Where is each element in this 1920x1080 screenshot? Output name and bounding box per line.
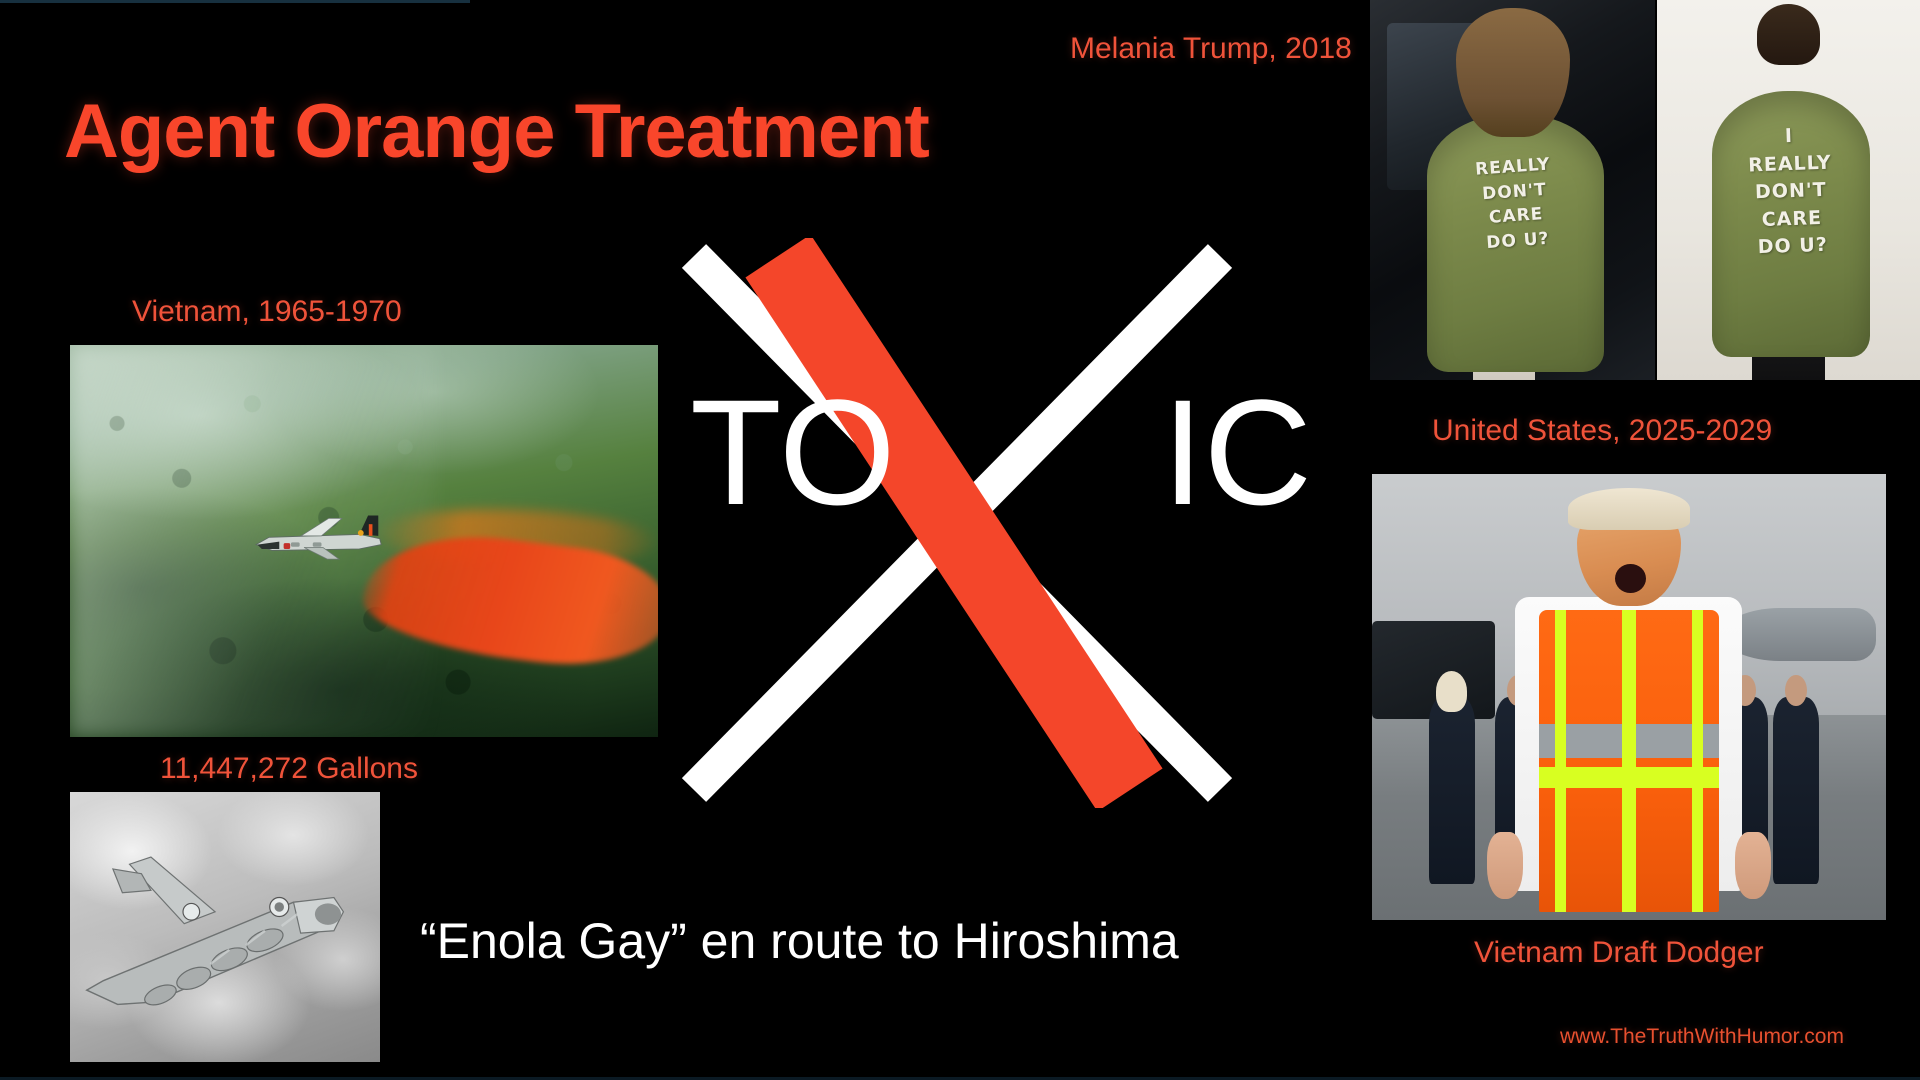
hand-left bbox=[1487, 832, 1522, 899]
bystander bbox=[1429, 697, 1475, 884]
top-edge-hairline bbox=[0, 0, 470, 3]
photo-man-in-safety-vest bbox=[1372, 474, 1886, 920]
website-credit[interactable]: www.TheTruthWithHumor.com bbox=[1560, 1025, 1844, 1049]
olive-parka-left: REALLYDON'TCAREDO U? bbox=[1427, 114, 1604, 372]
jacket-slogan-right: IREALLYDON'TCAREDO U? bbox=[1710, 120, 1873, 263]
photo-enola-gay-b29 bbox=[70, 792, 380, 1062]
photo-melania-boarding-vehicle: REALLYDON'TCAREDO U? bbox=[1370, 0, 1655, 380]
b29-aircraft-icon bbox=[82, 830, 367, 1024]
toxic-text-right: IC bbox=[1162, 377, 1312, 527]
man-in-orange-vest bbox=[1511, 501, 1747, 920]
c130-aircraft-icon bbox=[223, 514, 423, 565]
photo-vietnam-defoliant-spray bbox=[70, 345, 658, 737]
hair bbox=[1456, 8, 1570, 137]
bystander bbox=[1773, 697, 1819, 884]
jacket-slogan-left: REALLYDON'TCAREDO U? bbox=[1424, 149, 1607, 260]
open-mouth bbox=[1615, 564, 1646, 593]
olive-parka-right: IREALLYDON'TCAREDO U? bbox=[1712, 91, 1870, 357]
slide-canvas: Agent Orange Treatment Melania Trump, 20… bbox=[0, 0, 1920, 1080]
vest-stripe bbox=[1555, 610, 1566, 912]
caption-vietnam: Vietnam, 1965-1970 bbox=[132, 295, 402, 329]
caption-melania: Melania Trump, 2018 bbox=[1070, 32, 1352, 66]
toxic-text-left: TO bbox=[690, 377, 896, 527]
caption-draft-dodger: Vietnam Draft Dodger bbox=[1474, 936, 1764, 970]
hair-bun bbox=[1757, 4, 1820, 65]
orange-safety-vest bbox=[1539, 610, 1719, 912]
photo-melania-jacket-product: IREALLYDON'TCAREDO U? bbox=[1657, 0, 1920, 380]
caption-enola-gay: “Enola Gay” en route to Hiroshima bbox=[420, 912, 1179, 970]
page-title: Agent Orange Treatment bbox=[64, 88, 929, 175]
caption-gallons: 11,447,272 Gallons bbox=[160, 752, 418, 786]
caption-united-states: United States, 2025-2029 bbox=[1432, 414, 1772, 448]
hand-right bbox=[1735, 832, 1770, 899]
vest-stripe bbox=[1692, 610, 1703, 912]
hair bbox=[1568, 488, 1691, 530]
